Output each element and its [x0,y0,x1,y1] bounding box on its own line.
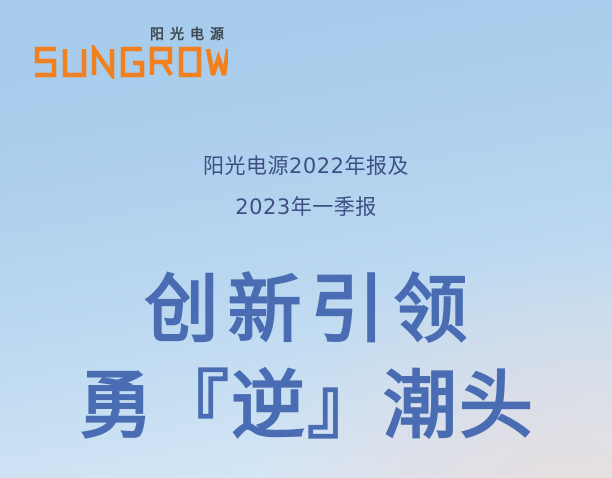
subtitle-line-1: 阳光电源2022年报及 [0,146,612,187]
logo-chinese-name: 阳光电源 [32,28,232,42]
presentation-cover-slide: 阳光电源 阳光电源2022年报及 2023年一季报 [0,0,612,478]
sungrow-logo: 阳光电源 [32,28,232,79]
report-subtitle: 阳光电源2022年报及 2023年一季报 [0,146,612,228]
headline-line-2: 勇『逆』潮头 [0,358,612,454]
sungrow-wordmark-icon [32,45,228,79]
headline-line-1: 创新引领 [0,262,612,358]
subtitle-line-2: 2023年一季报 [0,187,612,228]
cover-headline: 创新引领 勇『逆』潮头 [0,262,612,454]
